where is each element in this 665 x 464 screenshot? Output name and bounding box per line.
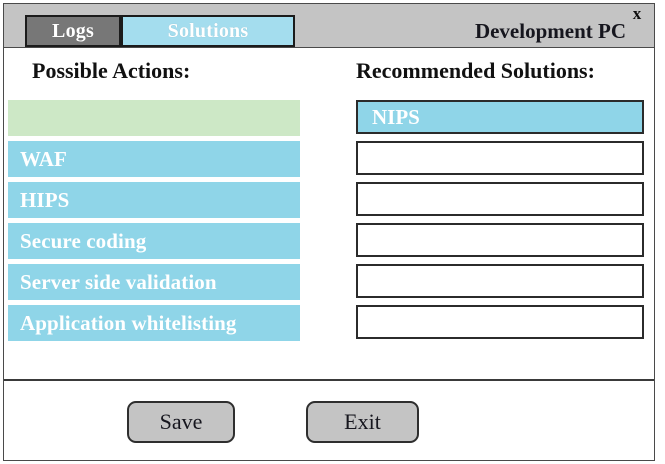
possible-actions-list: WAF HIPS Secure coding Server side valid… [8,100,300,346]
solution-field[interactable] [356,264,644,298]
exit-button[interactable]: Exit [306,401,419,443]
recommended-solutions-list: NIPS [356,100,644,346]
window-title: Development PC [475,15,626,47]
section-divider [4,379,654,381]
possible-actions-header: Possible Actions: [32,58,190,84]
content-panel: Possible Actions: Recommended Solutions:… [3,48,655,461]
close-icon[interactable]: x [628,4,646,24]
tab-logs[interactable]: Logs [25,15,121,47]
list-item[interactable]: Secure coding [8,223,300,259]
application-window: Logs Solutions Development PC x Possible… [0,0,665,464]
list-item[interactable]: Application whitelisting [8,305,300,341]
title-bar: Logs Solutions Development PC x [3,3,655,48]
list-item[interactable]: WAF [8,141,300,177]
list-item[interactable]: HIPS [8,182,300,218]
tab-solutions[interactable]: Solutions [121,15,295,47]
button-row: Save Exit [4,393,654,453]
list-item[interactable]: Server side validation [8,264,300,300]
list-item[interactable] [8,100,300,136]
recommended-solutions-header: Recommended Solutions: [356,58,595,84]
save-button[interactable]: Save [127,401,235,443]
solution-field[interactable] [356,182,644,216]
solution-field[interactable] [356,141,644,175]
solution-field[interactable] [356,223,644,257]
solution-field[interactable]: NIPS [356,100,644,134]
solution-field[interactable] [356,305,644,339]
